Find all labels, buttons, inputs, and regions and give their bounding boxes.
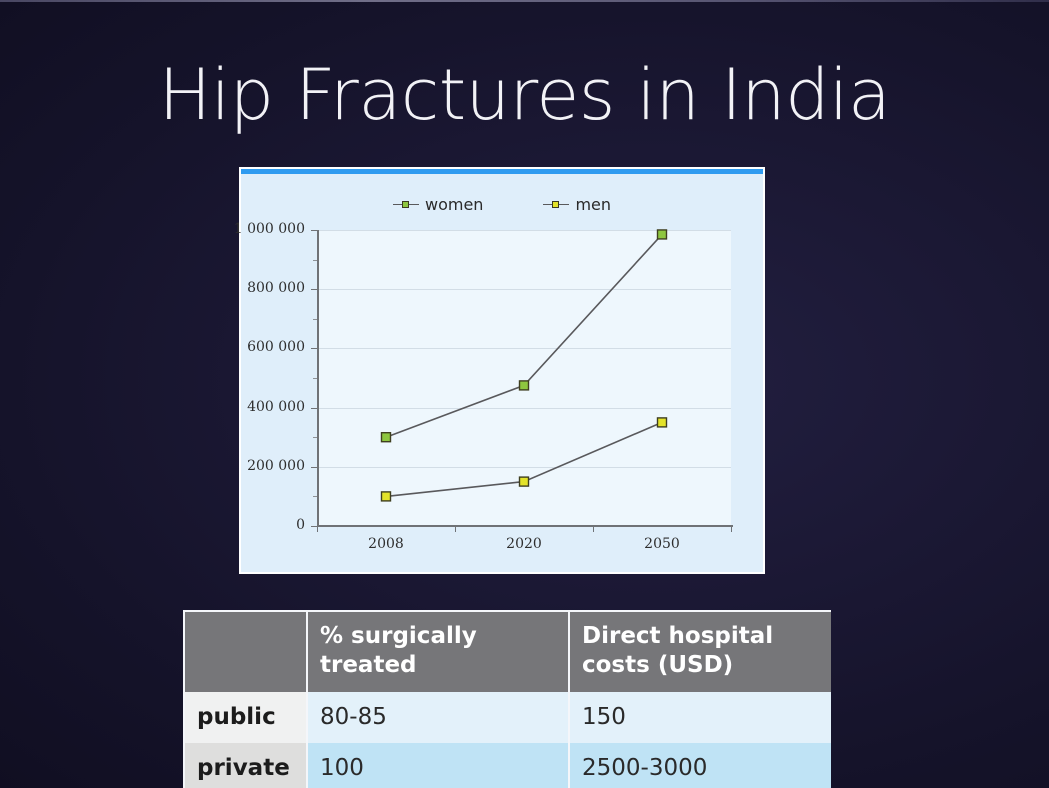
chart-panel: women men 0200 000400 000600 000800 0001…	[239, 167, 765, 574]
x-axis-label: 2050	[602, 536, 722, 552]
cell-public-surgically-treated: 80-85	[307, 692, 569, 743]
y-axis-label: 200 000	[105, 458, 315, 474]
y-tick-minor	[313, 437, 317, 438]
data-point-women[interactable]	[382, 433, 391, 442]
data-point-women[interactable]	[658, 230, 667, 239]
data-point-men[interactable]	[382, 492, 391, 501]
legend-item-women[interactable]: women	[393, 195, 483, 214]
y-axis-label: 600 000	[105, 339, 315, 355]
cell-private-surgically-treated: 100	[307, 743, 569, 788]
legend-marker-men-icon	[543, 200, 569, 209]
x-axis-label: 2020	[464, 536, 584, 552]
x-tick	[593, 526, 594, 532]
page-title: Hip Fractures in India	[0, 54, 1049, 136]
data-table: % surgically treated Direct hospital cos…	[183, 610, 831, 788]
table-row-label-public: public	[185, 692, 307, 743]
y-tick-minor	[313, 260, 317, 261]
data-point-men[interactable]	[658, 418, 667, 427]
chart-series-layer	[317, 230, 731, 526]
table-header-direct-costs: Direct hospital costs (USD)	[569, 612, 831, 692]
y-axis-label: 400 000	[105, 399, 315, 415]
table-row: private 100 2500-3000	[185, 743, 831, 788]
y-tick-minor	[313, 319, 317, 320]
x-axis-label: 2008	[326, 536, 446, 552]
cell-public-costs: 150	[569, 692, 831, 743]
data-point-men[interactable]	[520, 477, 529, 486]
y-axis-label: 0	[105, 517, 315, 533]
chart-accent-bar	[241, 169, 763, 174]
legend-label-women: women	[425, 195, 483, 214]
data-point-women[interactable]	[520, 381, 529, 390]
y-axis-line	[317, 230, 319, 527]
plot-area	[317, 230, 731, 526]
y-tick-minor	[313, 378, 317, 379]
x-tick	[317, 526, 318, 532]
cell-private-costs: 2500-3000	[569, 743, 831, 788]
y-axis-label: 800 000	[105, 280, 315, 296]
chart-legend: women men	[241, 195, 763, 214]
table-header-blank	[185, 612, 307, 692]
legend-marker-women-icon	[393, 200, 419, 209]
y-axis-label: 1 000 000	[105, 221, 315, 237]
plot-area-wrapper: 0200 000400 000600 000800 0001 000 000 2…	[317, 230, 731, 536]
x-tick	[455, 526, 456, 532]
table-row: public 80-85 150	[185, 692, 831, 743]
table-row-label-private: private	[185, 743, 307, 788]
y-tick-minor	[313, 496, 317, 497]
legend-item-men[interactable]: men	[543, 195, 611, 214]
x-axis-line	[317, 525, 733, 527]
table-header-row: % surgically treated Direct hospital cos…	[185, 612, 831, 692]
series-line-women	[386, 234, 662, 437]
slide: Hip Fractures in India women men 0200 00…	[0, 0, 1049, 788]
table-header-surgically-treated: % surgically treated	[307, 612, 569, 692]
x-tick	[731, 526, 732, 532]
legend-label-men: men	[575, 195, 611, 214]
